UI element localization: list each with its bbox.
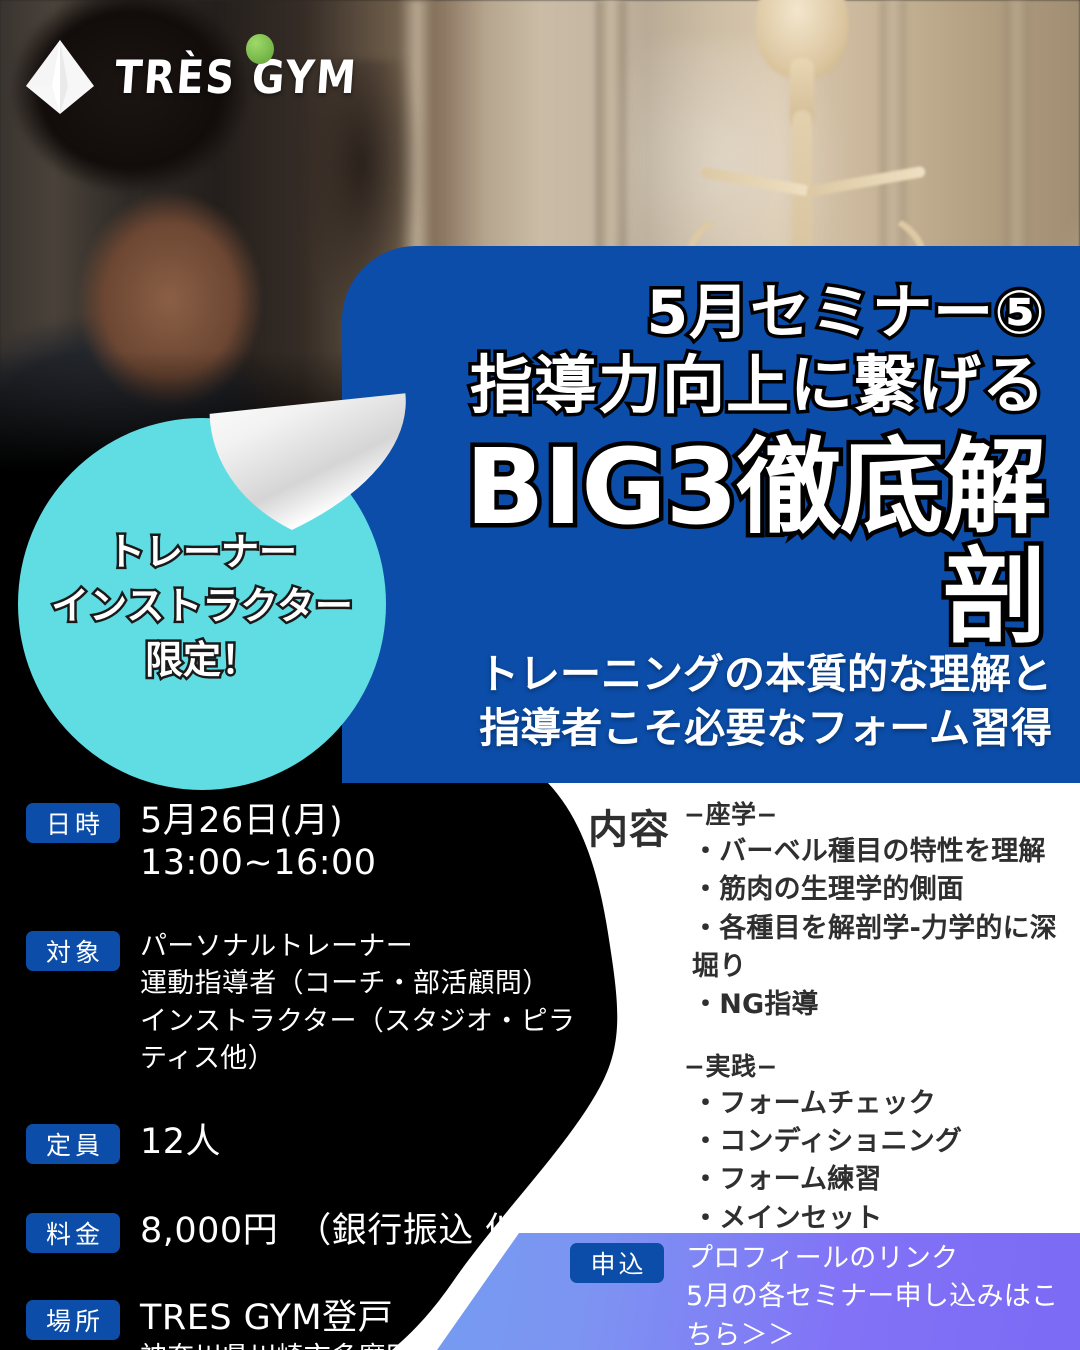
detail-tag-capacity: 定員 (26, 1124, 120, 1164)
pyramid-icon (24, 38, 96, 116)
detail-row-target: 対象 パーソナルトレーナー 運動指導者（コーチ・部活顧問） インストラクター（ス… (26, 928, 586, 1077)
content-item: ・各種目を解剖学-力学的に深堀り (684, 910, 1080, 987)
target-line-1: パーソナルトレーナー (140, 928, 586, 965)
datetime-value: 5月26日(月) 13:00~16:00 (140, 800, 586, 884)
title-panel: 5月セミナー⑤ 指導力向上に繋げる BIG3徹底解剖 トレーニングの本質的な理解… (342, 246, 1080, 783)
title-block: 5月セミナー⑤ 指導力向上に繋げる BIG3徹底解剖 (366, 280, 1046, 652)
detail-value-fee: 8,000円 （銀行振込 他） (140, 1210, 556, 1252)
brand-logo: TRÈS GYM (24, 38, 363, 116)
apply-line-1: プロフィールのリンク (686, 1240, 1080, 1278)
title-subline: 指導力向上に繋げる (366, 351, 1046, 422)
target-line-2: 運動指導者（コーチ・部活顧問） (140, 965, 586, 1002)
detail-tag-datetime: 日時 (26, 803, 120, 843)
logo-green-dot (246, 34, 274, 64)
title-main: BIG3徹底解剖 (366, 432, 1046, 652)
detail-tag-target: 対象 (26, 931, 120, 971)
brand-logo-text: TRÈS GYM (113, 50, 359, 104)
content-item: ・メインセット (684, 1200, 1080, 1238)
title-description: トレーニングの本質的な理解と 指導者こそ必要なフォーム習得 (362, 647, 1052, 755)
title-description-line2: 指導者こそ必要なフォーム習得 (362, 701, 1052, 755)
capacity-value: 12人 (140, 1121, 221, 1163)
detail-tag-venue: 場所 (26, 1300, 120, 1340)
content-section-title-practice: −実践− (684, 1047, 1080, 1083)
sticker-line-2: インストラクター (18, 580, 386, 634)
content-item: ・フォーム練習 (684, 1161, 1080, 1199)
target-line-3: インストラクター（スタジオ・ピラティス他） (140, 1003, 586, 1078)
apply-line-2[interactable]: 5月の各セミナー申し込みはこちら＞＞ (686, 1278, 1080, 1350)
detail-row-datetime: 日時 5月26日(月) 13:00~16:00 (26, 800, 586, 884)
content-item: ・筋肉の生理学的側面 (684, 871, 1080, 909)
sticker-line-1: トレーナー (18, 526, 386, 580)
title-eyebrow: 5月セミナー⑤ (366, 280, 1046, 347)
content-item: ・フォームチェック (684, 1085, 1080, 1123)
detail-value-datetime: 5月26日(月) 13:00~16:00 (140, 800, 586, 884)
audience-sticker: トレーナー インストラクター 限定！ (18, 418, 386, 790)
apply-content: 申込 プロフィールのリンク 5月の各セミナー申し込みはこちら＞＞ より、お申込み… (570, 1240, 1080, 1350)
sticker-text: トレーナー インストラクター 限定！ (18, 526, 386, 688)
content-items: −座学− ・バーベル種目の特性を理解 ・筋肉の生理学的側面 ・各種目を解剖学-力… (684, 795, 1080, 1276)
content-heading: 内容 (588, 797, 670, 1276)
title-description-line1: トレーニングの本質的な理解と (362, 647, 1052, 701)
detail-row-capacity: 定員 12人 (26, 1121, 586, 1164)
fee-value: 8,000円 （銀行振込 他） (140, 1210, 556, 1252)
content-section-title-lecture: −座学− (684, 795, 1080, 831)
detail-tag-fee: 料金 (26, 1213, 120, 1253)
content-item: ・NG指導 (684, 986, 1080, 1024)
content-item: ・バーベル種目の特性を理解 (684, 833, 1080, 871)
detail-row-fee: 料金 8,000円 （銀行振込 他） (26, 1210, 586, 1253)
seminar-content: 内容 −座学− ・バーベル種目の特性を理解 ・筋肉の生理学的側面 ・各種目を解剖… (588, 795, 1080, 1276)
apply-tag: 申込 (570, 1243, 664, 1283)
detail-value-capacity: 12人 (140, 1121, 221, 1163)
sticker-line-3: 限定！ (18, 634, 386, 688)
content-item: ・コンディショニング (684, 1123, 1080, 1161)
detail-value-target: パーソナルトレーナー 運動指導者（コーチ・部活顧問） インストラクター（スタジオ… (140, 928, 586, 1077)
apply-instructions: プロフィールのリンク 5月の各セミナー申し込みはこちら＞＞ より、お申込みフォー… (686, 1240, 1080, 1350)
poster-root: TRÈS GYM 5月セミナー⑤ 指導力向上に繋げる BIG3徹底解剖 トレーニ… (0, 0, 1080, 1350)
